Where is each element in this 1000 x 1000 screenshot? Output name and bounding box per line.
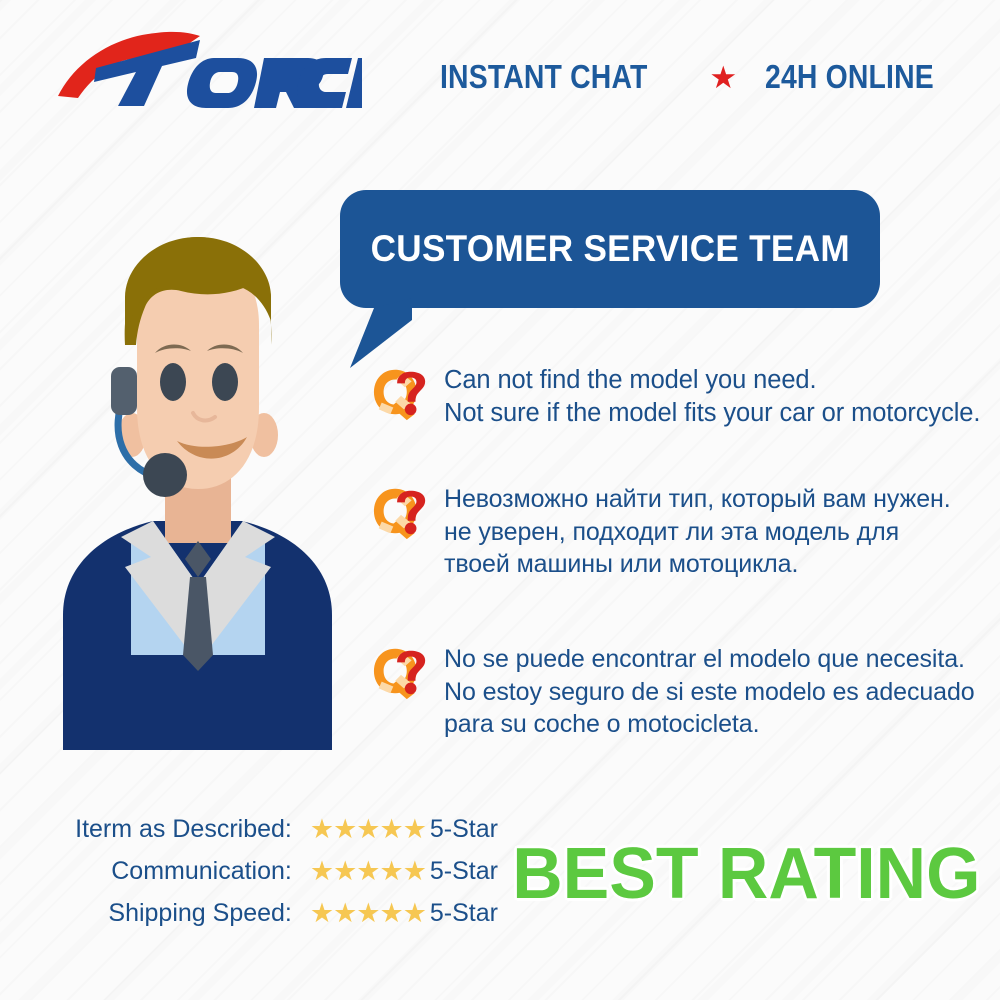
qa-text-spanish: No se puede encontrar el modelo que nece… xyxy=(444,643,975,741)
best-rating-banner: BEST RATING xyxy=(505,828,975,920)
qa-text-russian: Невозможно найти тип, который вам нужен.… xyxy=(444,483,951,581)
qa-line: Not sure if the model fits your car or m… xyxy=(444,397,980,430)
header: INSTANT CHAT ★ 24H ONLINE xyxy=(0,0,1000,130)
speech-bubble-body: CUSTOMER SERVICE TEAM xyxy=(340,190,880,308)
star-rating-icons: ★★★★★ xyxy=(310,816,426,843)
question-mark-icon xyxy=(372,483,430,541)
red-star-icon: ★ xyxy=(709,62,737,93)
rating-row: Shipping Speed: ★★★★★ 5-Star xyxy=(28,892,498,934)
qa-row-spanish: No se puede encontrar el modelo que nece… xyxy=(372,643,975,741)
qa-line: Невозможно найти тип, который вам нужен. xyxy=(444,483,951,516)
ratings-list: Iterm as Described: ★★★★★ 5-Star Communi… xyxy=(28,808,498,934)
qa-row-russian: Невозможно найти тип, который вам нужен.… xyxy=(372,483,951,581)
qa-line: para su coche o motocicleta. xyxy=(444,708,975,741)
qa-text-english: Can not find the model you need. Not sur… xyxy=(444,364,980,430)
torch-logo[interactable] xyxy=(52,28,362,108)
speech-bubble: CUSTOMER SERVICE TEAM xyxy=(340,190,880,375)
star-rating-icons: ★★★★★ xyxy=(310,900,426,927)
qa-row-english: Can not find the model you need. Not sur… xyxy=(372,364,980,430)
rating-value: 5-Star xyxy=(430,857,498,886)
qa-line: No se puede encontrar el modelo que nece… xyxy=(444,643,975,676)
customer-service-agent-illustration xyxy=(25,185,370,750)
question-mark-icon xyxy=(372,364,430,422)
qa-line: Can not find the model you need. xyxy=(444,364,980,397)
rating-value: 5-Star xyxy=(430,899,498,928)
rating-label: Iterm as Described: xyxy=(75,815,292,844)
qa-line: не уверен, подходит ли эта модель для xyxy=(444,516,951,549)
online-label: 24H ONLINE xyxy=(765,58,934,96)
rating-label: Shipping Speed: xyxy=(108,899,291,928)
star-rating-icons: ★★★★★ xyxy=(310,858,426,885)
rating-value: 5-Star xyxy=(430,815,498,844)
qa-line: твоей машины или мотоцикла. xyxy=(444,548,951,581)
instant-chat-label: INSTANT CHAT xyxy=(440,58,648,96)
rating-label: Communication: xyxy=(111,857,292,886)
rating-row: Communication: ★★★★★ 5-Star xyxy=(28,850,498,892)
question-mark-icon xyxy=(372,643,430,701)
qa-line: No estoy seguro de si este modelo es ade… xyxy=(444,676,975,709)
rating-row: Iterm as Described: ★★★★★ 5-Star xyxy=(28,808,498,850)
best-rating-text: BEST RATING xyxy=(512,833,980,915)
header-tagline: INSTANT CHAT ★ 24H ONLINE xyxy=(440,58,961,96)
speech-bubble-tail xyxy=(350,298,420,370)
speech-bubble-title: CUSTOMER SERVICE TEAM xyxy=(370,228,849,270)
